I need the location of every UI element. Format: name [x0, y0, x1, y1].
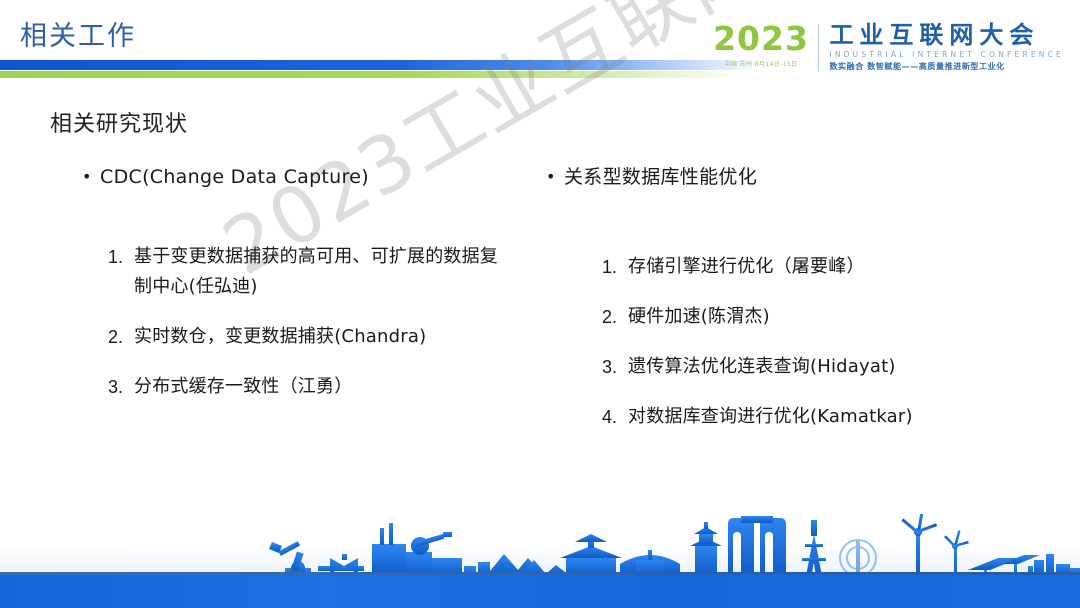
list-item: 1. 基于变更数据捕获的高可用、可扩展的数据复制中心(任弘迪)	[108, 242, 508, 302]
list-item-text: 实时数仓，变更数据捕获(Chandra)	[134, 322, 426, 352]
header-rule-green	[0, 71, 745, 78]
logo-name-block: 工业互联网大会 INDUSTRIAL INTERNET CONFERENCE 数…	[819, 22, 1064, 72]
bullet-icon: •	[546, 164, 564, 190]
list-number: 3.	[602, 352, 628, 382]
pagoda-tower-icon	[690, 522, 722, 576]
list-item: 1. 存储引擎进行优化（屠要峰）	[602, 252, 1022, 282]
list-number: 2.	[108, 322, 134, 352]
tv-tower-icon	[802, 520, 826, 576]
antenna-icon	[840, 540, 876, 576]
footer-band	[0, 572, 1080, 608]
list-item: 2. 硬件加速(陈渭杰)	[602, 302, 1022, 332]
logo-tagline: 数实融合 数智赋能——高质量推进新型工业化	[829, 61, 1064, 72]
wind-turbine-icon	[901, 514, 937, 576]
logo-place: 中国 苏州 8月14日-15日	[724, 59, 797, 68]
slide-header: 相关工作 2023 中国 苏州 8月14日-15日 工业互联网大会 INDUST…	[0, 0, 1080, 86]
list-item: 2. 实时数仓，变更数据捕获(Chandra)	[108, 322, 508, 352]
gate-of-the-orient-icon	[728, 516, 786, 576]
list-item: 3. 分布式缓存一致性（江勇）	[108, 372, 508, 402]
pipeline-icon	[318, 554, 364, 574]
section-heading: 相关研究现状	[50, 106, 188, 138]
logo-year-block: 2023 中国 苏州 8月14日-15日	[713, 22, 818, 68]
slide: 相关工作 2023 中国 苏州 8月14日-15日 工业互联网大会 INDUST…	[0, 0, 1080, 608]
city-skyline-illustration	[0, 514, 1080, 576]
page-title: 相关工作	[20, 14, 136, 53]
list-number: 4.	[602, 402, 628, 432]
slide-footer	[0, 513, 1080, 608]
list-number: 2.	[602, 302, 628, 332]
list-number: 1.	[602, 252, 628, 282]
list-item: 3. 遗传算法优化连表查询(Hidayat)	[602, 352, 1022, 382]
list-number: 1.	[108, 242, 134, 272]
column-right: • 关系型数据库性能优化 1. 存储引擎进行优化（屠要峰） 2. 硬件加速(陈渭…	[546, 164, 1016, 190]
bullet-label: CDC(Change Data Capture)	[100, 164, 369, 190]
list-left: 1. 基于变更数据捕获的高可用、可扩展的数据复制中心(任弘迪) 2. 实时数仓，…	[108, 242, 508, 422]
column-left: • CDC(Change Data Capture) 1. 基于变更数据捕获的高…	[82, 164, 512, 190]
list-item-text: 硬件加速(陈渭杰)	[628, 302, 770, 332]
conference-logo: 2023 中国 苏州 8月14日-15日 工业互联网大会 INDUSTRIAL …	[713, 22, 1064, 74]
list-item-text: 遗传算法优化连表查询(Hidayat)	[628, 352, 896, 382]
logo-name-en: INDUSTRIAL INTERNET CONFERENCE	[829, 50, 1064, 59]
logo-year: 2023	[713, 22, 809, 56]
factory-icon	[372, 523, 462, 576]
header-rule-blue	[0, 60, 760, 70]
logo-name-cn: 工业互联网大会	[829, 22, 1064, 48]
bullet-label: 关系型数据库性能优化	[564, 164, 757, 190]
bullet-icon: •	[82, 164, 100, 190]
wind-turbine-icon	[944, 530, 969, 576]
list-item-text: 分布式缓存一致性（江勇）	[134, 372, 352, 402]
list-number: 3.	[108, 372, 134, 402]
list-item: 4. 对数据库查询进行优化(Kamatkar)	[602, 402, 1022, 432]
list-item-text: 对数据库查询进行优化(Kamatkar)	[628, 402, 913, 432]
bullet-rdbms-optimization: • 关系型数据库性能优化	[546, 164, 1016, 190]
robot-arm-icon	[269, 541, 311, 576]
list-item-text: 存储引擎进行优化（屠要峰）	[628, 252, 865, 282]
bullet-cdc: • CDC(Change Data Capture)	[82, 164, 512, 190]
pagoda-gate-icon	[560, 534, 622, 576]
slide-content: 相关研究现状 • CDC(Change Data Capture) 1. 基于变…	[0, 86, 1080, 516]
list-item-text: 基于变更数据捕获的高可用、可扩展的数据复制中心(任弘迪)	[134, 242, 508, 302]
list-right: 1. 存储引擎进行优化（屠要峰） 2. 硬件加速(陈渭杰) 3. 遗传算法优化连…	[602, 252, 1022, 452]
